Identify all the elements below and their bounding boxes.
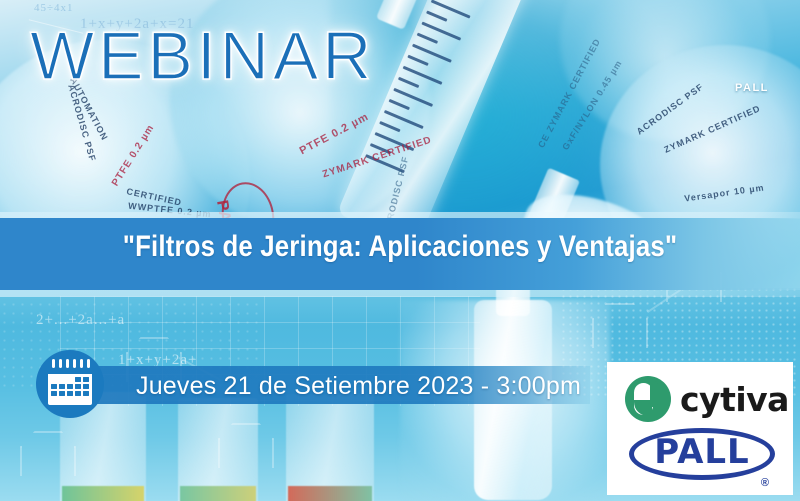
pall-logo: PALL ®	[629, 428, 775, 480]
formula-lab-1: 2+...+2a...+a	[36, 312, 125, 329]
webinar-title: "Filtros de Jeringa: Aplicaciones y Vent…	[56, 230, 744, 264]
pall-registered-mark: ®	[761, 477, 769, 489]
webinar-poster: ACRODISC PSF AUTOMATION CERTIFIED WWPTFE…	[0, 0, 800, 501]
logo-box: cytiva PALL ®	[607, 362, 793, 495]
webinar-date: Jueves 21 de Setiembre 2023 - 3:00pm	[136, 372, 581, 401]
cytiva-wordmark: cytiva	[680, 383, 789, 416]
cytiva-droplet-icon	[625, 376, 671, 422]
page-title: WEBINAR	[30, 22, 375, 90]
calendar-body	[48, 365, 92, 405]
banner-bottom-highlight	[0, 290, 800, 297]
calendar-icon	[36, 350, 104, 418]
pall-wordmark: PALL	[629, 435, 775, 469]
calendar-grid	[51, 377, 89, 396]
cytiva-logo: cytiva	[625, 376, 789, 422]
